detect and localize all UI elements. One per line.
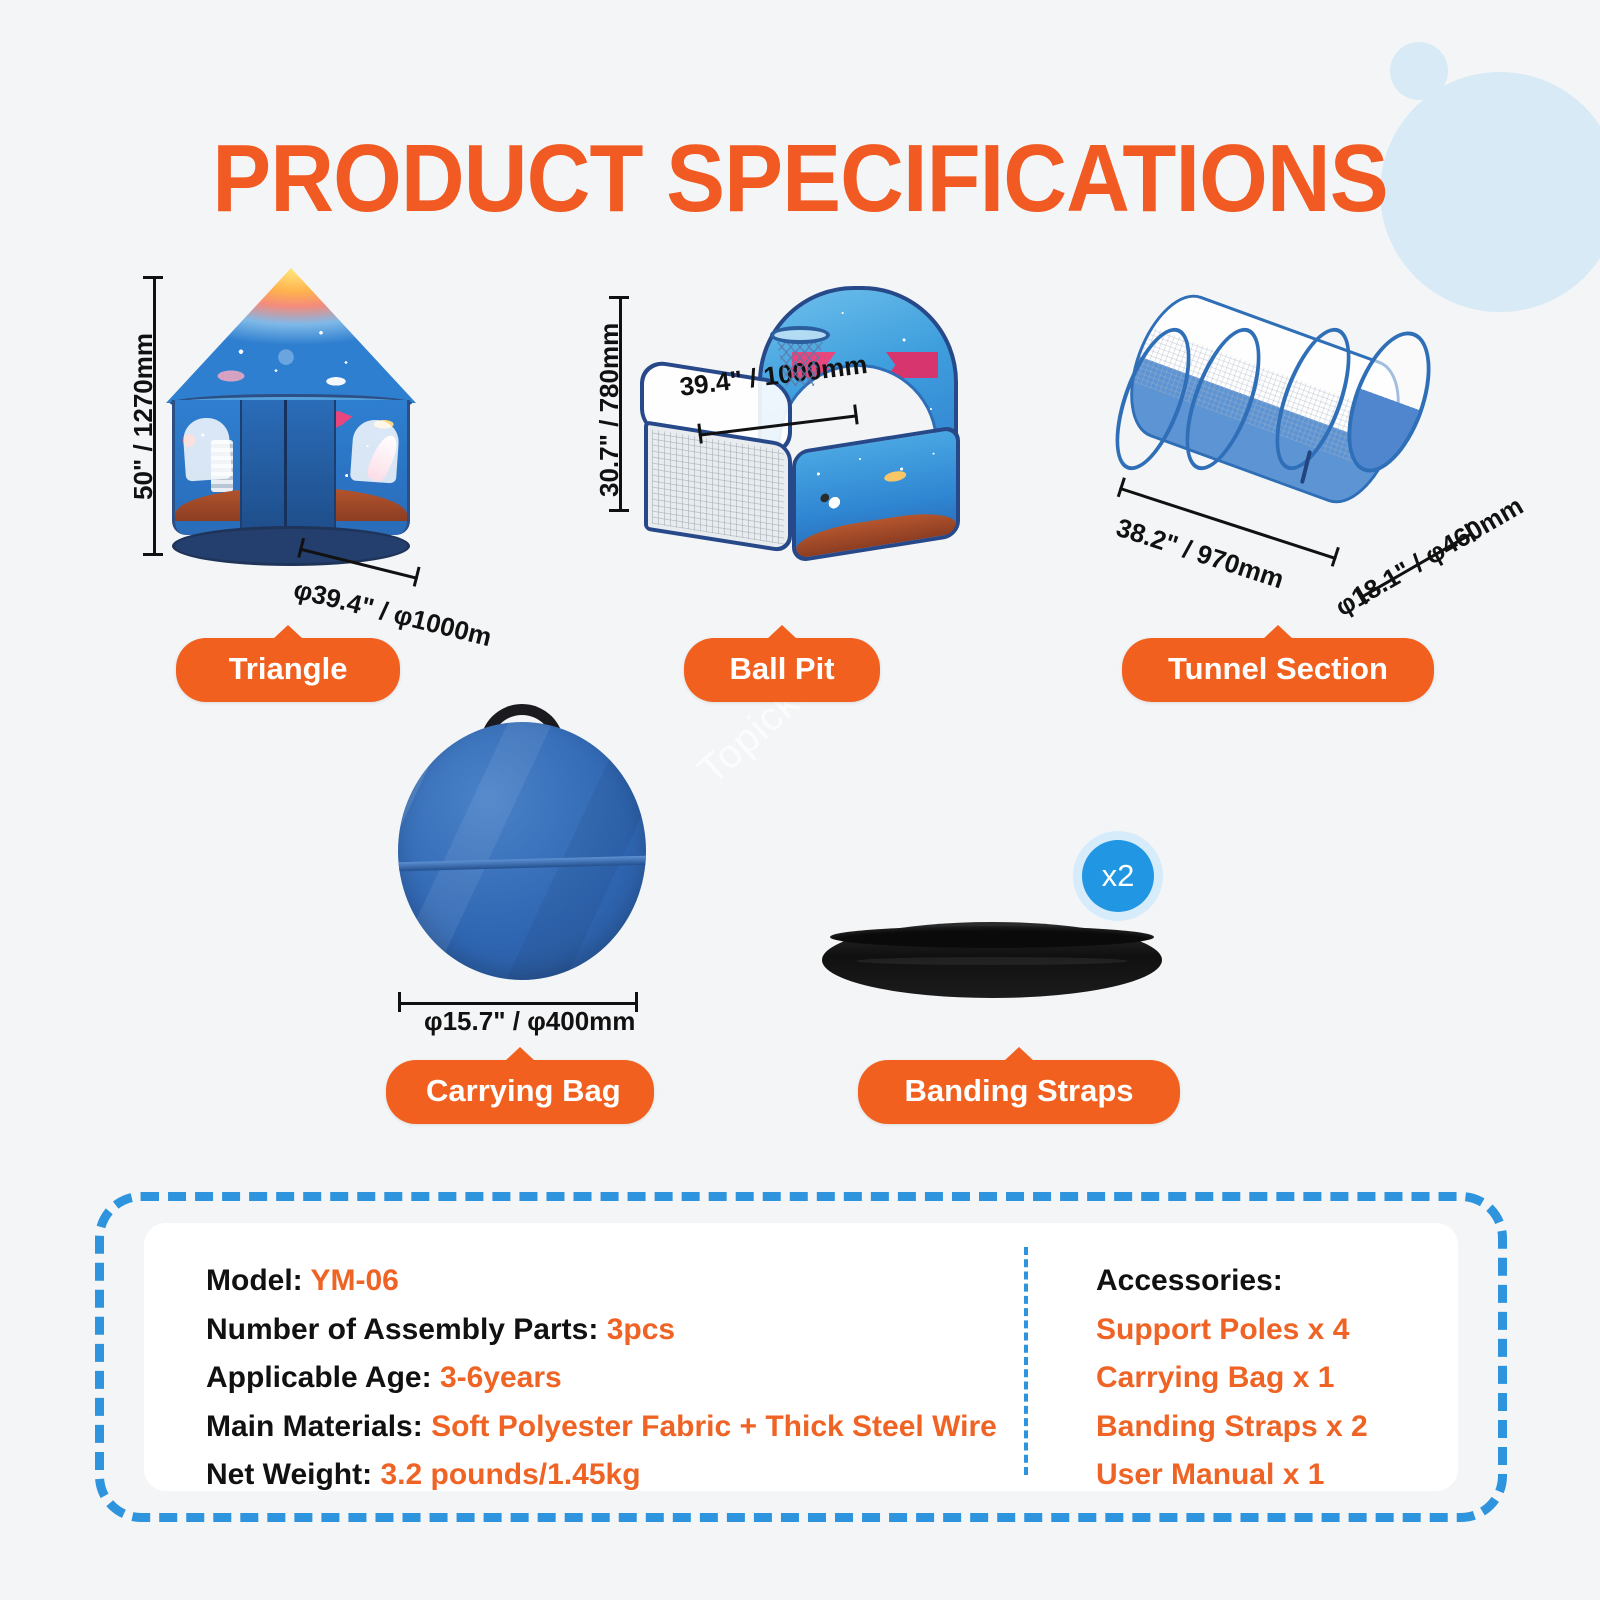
spec-label: Applicable Age:: [206, 1361, 432, 1394]
tent-window-right: [350, 418, 400, 483]
ballpit-height-label: 30.7" / 780mm: [594, 323, 625, 497]
accessory-item-banding-straps: Banding Straps x 2: [1096, 1403, 1458, 1452]
mars-ground-graphic: [796, 507, 956, 558]
product-label-ball-pit[interactable]: Ball Pit: [684, 638, 880, 702]
tent-door: [240, 400, 336, 528]
basketball-hoop: [770, 326, 830, 344]
spec-value: 3-6years: [440, 1361, 562, 1394]
specifications-panel: Model: YM-06 Number of Assembly Parts: 3…: [95, 1192, 1507, 1522]
specifications-inner: Model: YM-06 Number of Assembly Parts: 3…: [144, 1223, 1458, 1491]
specifications-column: Model: YM-06 Number of Assembly Parts: 3…: [144, 1223, 1024, 1491]
bag-fabric-folds: [398, 722, 646, 980]
spec-label: Main Materials:: [206, 1410, 423, 1443]
strap-inner-edge: [830, 926, 1154, 948]
quantity-badge-x2: x2: [1082, 840, 1154, 912]
infographic-canvas: PRODUCT SPECIFICATIONS Topick.it 50" / 1…: [0, 0, 1600, 1600]
accessories-heading: Accessories:: [1096, 1257, 1458, 1306]
accessories-column: Accessories: Support Poles x 4 Carrying …: [1028, 1223, 1458, 1491]
spec-value: 3pcs: [607, 1313, 675, 1346]
product-label-triangle[interactable]: Triangle: [176, 638, 400, 702]
tent-height-tick-bottom: [143, 553, 163, 556]
tent-window-left: [182, 416, 232, 481]
spec-row-applicable-age: Applicable Age: 3-6years: [206, 1354, 1024, 1403]
tent-height-label: 50" / 1270mm: [128, 333, 159, 500]
ballpit-height-tick-top: [609, 296, 629, 299]
product-image-triangle-tent: [166, 268, 416, 558]
decorative-circle-small: [1390, 42, 1448, 100]
accessory-item-user-manual: User Manual x 1: [1096, 1451, 1458, 1500]
spec-label: Number of Assembly Parts:: [206, 1313, 598, 1346]
spec-row-model: Model: YM-06: [206, 1257, 1024, 1306]
badge-label: x2: [1082, 840, 1154, 912]
spec-row-net-weight: Net Weight: 3.2 pounds/1.45kg: [206, 1451, 1024, 1500]
spec-value: YM-06: [310, 1264, 398, 1297]
spec-row-assembly-parts: Number of Assembly Parts: 3pcs: [206, 1306, 1024, 1355]
product-image-carrying-bag: [398, 722, 646, 980]
tent-roof: [166, 268, 416, 403]
bag-body: [398, 722, 646, 980]
product-label-banding-straps[interactable]: Banding Straps: [858, 1060, 1180, 1124]
accessory-item-carrying-bag: Carrying Bag x 1: [1096, 1354, 1458, 1403]
strap-highlight: [856, 957, 1128, 965]
spec-value: Soft Polyester Fabric + Thick Steel Wire: [431, 1410, 997, 1443]
page-title: PRODUCT SPECIFICATIONS: [64, 124, 1536, 234]
spec-label: Net Weight:: [206, 1458, 372, 1491]
ballpit-height-tick-bottom: [609, 509, 629, 512]
product-label-carrying-bag[interactable]: Carrying Bag: [386, 1060, 654, 1124]
accessory-item-support-poles: Support Poles x 4: [1096, 1306, 1458, 1355]
spec-row-main-materials: Main Materials: Soft Polyester Fabric + …: [206, 1403, 1024, 1452]
tent-height-tick-top: [143, 276, 163, 279]
bag-diameter-label: φ15.7" / φ400mm: [424, 1006, 635, 1037]
spec-label: Model:: [206, 1264, 303, 1297]
spec-value: 3.2 pounds/1.45kg: [380, 1458, 640, 1491]
product-label-tunnel-section[interactable]: Tunnel Section: [1122, 638, 1434, 702]
product-image-banding-straps: [822, 922, 1162, 998]
